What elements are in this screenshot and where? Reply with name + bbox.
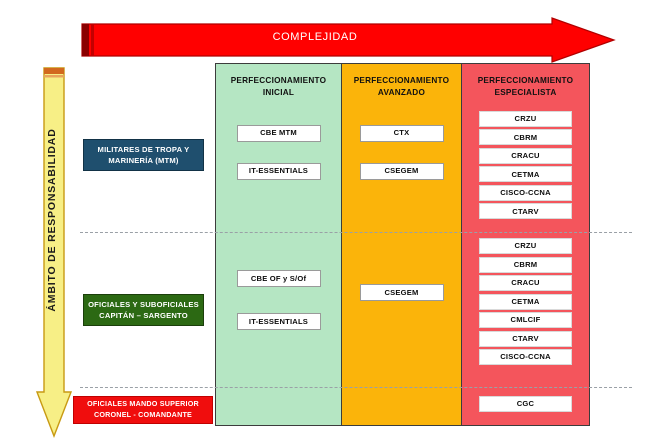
cell-inicial-oficiales: CBE OF y S/Of IT-ESSENTIALS [216,232,341,386]
course-chip[interactable]: CSEGEM [360,163,444,180]
course-chip[interactable]: CTX [360,125,444,142]
cell-especialista-mtm: CRZU CBRM CRACU CETMA CISCO-CCNA CTARV [462,108,589,232]
course-chip[interactable]: CISCO-CCNA [479,185,572,201]
category-oficiales-line1: OFICIALES Y SUBOFICIALES [88,299,199,310]
course-chip[interactable]: CBE OF y S/Of [237,270,321,287]
course-chip[interactable]: CRZU [479,238,572,254]
cell-avanzado-mtm: CTX CSEGEM [342,108,461,232]
category-oficiales-line2: CAPITÁN – SARGENTO [88,310,199,321]
course-chip[interactable]: CGC [479,396,572,412]
category-mtm-line2: MARINERÍA (MTM) [98,155,190,166]
course-chip[interactable]: IT-ESSENTIALS [237,163,321,180]
course-chip[interactable]: CRACU [479,275,572,291]
course-chip[interactable]: CISCO-CCNA [479,349,572,365]
row-divider-upper [80,232,632,233]
column-header-especialista-line2: ESPECIALISTA [462,87,589,99]
column-perfeccionamiento-inicial: PERFECCIONAMIENTO INICIAL CBE MTM IT-ESS… [215,63,342,426]
column-header-especialista: PERFECCIONAMIENTO ESPECIALISTA [462,64,589,108]
column-perfeccionamiento-avanzado: PERFECCIONAMIENTO AVANZADO CTX CSEGEM CS… [342,63,462,426]
column-header-avanzado: PERFECCIONAMIENTO AVANZADO [342,64,461,108]
category-mtm-line1: MILITARES DE TROPA Y [98,144,190,155]
category-mando-line2: CORONEL - COMANDANTE [87,410,199,421]
cell-inicial-mando [216,386,341,425]
cell-inicial-mtm: CBE MTM IT-ESSENTIALS [216,108,341,232]
course-chip[interactable]: CBRM [479,257,572,273]
column-header-inicial-line1: PERFECCIONAMIENTO [216,75,341,87]
row-divider-lower [80,387,632,388]
column-header-avanzado-line1: PERFECCIONAMIENTO [342,75,461,87]
column-header-inicial-line2: INICIAL [216,87,341,99]
category-mando-line1: OFICIALES MANDO SUPERIOR [87,399,199,410]
cell-especialista-mando: CGC [462,386,589,425]
course-chip[interactable]: CETMA [479,294,572,310]
column-header-inicial: PERFECCIONAMIENTO INICIAL [216,64,341,108]
course-chip[interactable]: CRZU [479,111,572,127]
training-matrix: PERFECCIONAMIENTO INICIAL CBE MTM IT-ESS… [215,63,590,426]
course-chip[interactable]: CBE MTM [237,125,321,142]
column-header-avanzado-line2: AVANZADO [342,87,461,99]
course-chip[interactable]: CSEGEM [360,284,444,301]
course-chip[interactable]: CTARV [479,203,572,219]
course-chip[interactable]: CMLCIF [479,312,572,328]
course-chip[interactable]: IT-ESSENTIALS [237,313,321,330]
responsibility-axis-arrow: ÁMBITO DE RESPONSABILIDAD [36,66,72,438]
category-label-mando-superior: OFICIALES MANDO SUPERIOR CORONEL - COMAN… [73,396,213,424]
complexity-axis-arrow: COMPLEJIDAD [80,17,616,63]
column-header-especialista-line1: PERFECCIONAMIENTO [462,75,589,87]
category-label-oficiales: OFICIALES Y SUBOFICIALES CAPITÁN – SARGE… [83,294,204,326]
cell-avanzado-mando [342,386,461,425]
course-chip[interactable]: CBRM [479,129,572,145]
course-chip[interactable]: CETMA [479,166,572,182]
cell-avanzado-oficiales: CSEGEM [342,232,461,386]
course-chip[interactable]: CTARV [479,331,572,347]
diagram-canvas: COMPLEJIDAD ÁMBITO DE RESPONSABILIDAD PE… [0,0,650,440]
column-perfeccionamiento-especialista: PERFECCIONAMIENTO ESPECIALISTA CRZU CBRM… [462,63,590,426]
category-label-mtm: MILITARES DE TROPA Y MARINERÍA (MTM) [83,139,204,171]
cell-especialista-oficiales: CRZU CBRM CRACU CETMA CMLCIF CTARV CISCO… [462,232,589,386]
course-chip[interactable]: CRACU [479,148,572,164]
